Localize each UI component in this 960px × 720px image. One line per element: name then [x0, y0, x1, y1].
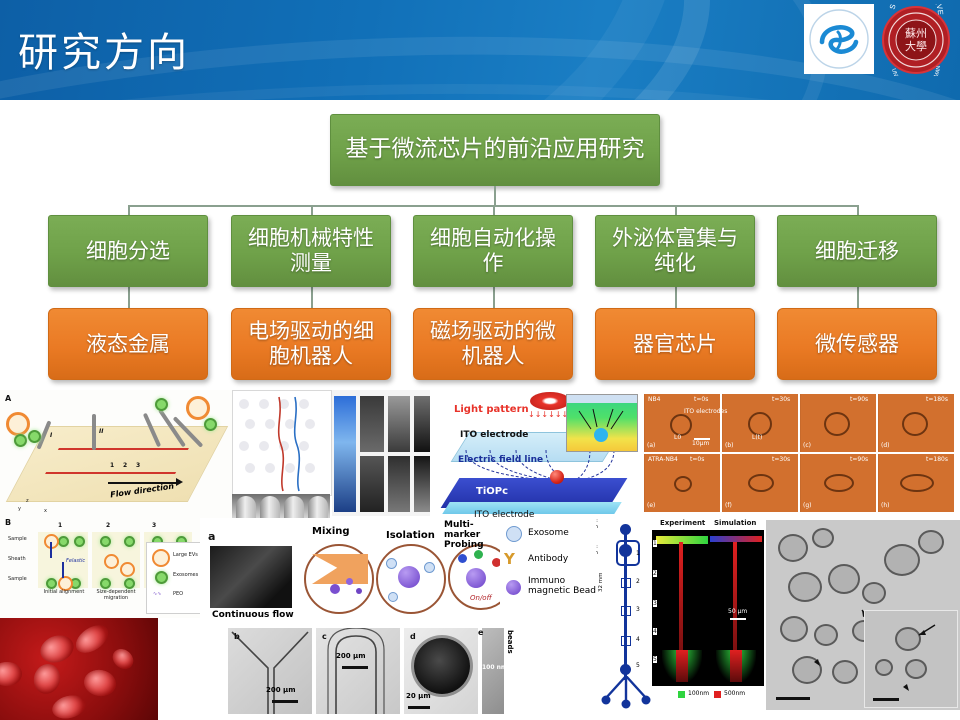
micrograph-b: [228, 628, 312, 714]
connector-green-to-orange: [311, 287, 313, 308]
panel-label: (c): [803, 442, 811, 449]
light-arrows: ↓↓↓↓↓↓: [528, 410, 568, 419]
cross-section-label: Cross-section of beads: [506, 630, 516, 716]
step-label-initial-alignment: Initial alignment: [40, 590, 88, 596]
migration-arrow: [50, 542, 52, 558]
cell-outline: [902, 412, 928, 436]
page-title: 研究方向: [18, 20, 190, 78]
elastic-force-arrow: [62, 562, 64, 578]
elastic-force-label: Felastic: [66, 558, 85, 564]
cell-outline: [824, 474, 854, 492]
outlet-label-1: 1: [110, 462, 114, 469]
step-label-mixing: Mixing: [312, 526, 350, 537]
outlet-branches: [596, 676, 658, 712]
magnetic-bead: [398, 566, 420, 588]
col-label-1: 1: [58, 522, 62, 529]
dld-trajectory-lines: [233, 391, 331, 495]
scale-label-e: 100 nm: [482, 664, 507, 671]
row-label-2: 2: [653, 570, 657, 577]
axis-label-x: x: [44, 508, 47, 514]
light-pattern-icon: [530, 392, 570, 410]
position-marker: [621, 636, 631, 646]
exosome-particle: [46, 578, 57, 589]
outlet-label-2: 2: [123, 462, 127, 469]
connector-branch: [493, 205, 495, 215]
exosome-particle: [424, 562, 435, 573]
figure-collage: A I II 1 2 3 Flow direction z y x: [0, 390, 960, 720]
legend-label-peo: PEO: [173, 591, 183, 597]
tem-inset: [864, 610, 958, 708]
time-label-180s: t=180s: [926, 396, 948, 403]
legend-icon-exosome: [506, 526, 522, 542]
panel-label-a: a: [208, 530, 215, 543]
exosome-particle: [124, 536, 135, 547]
row-label-sample: Sample: [8, 536, 27, 542]
tree-node-cell-automation[interactable]: 细胞自动化操作: [413, 215, 573, 287]
panel-label-b: B: [5, 518, 11, 527]
row-label-atra-nb4: ATRA-NB4: [648, 456, 678, 463]
row-label-3: 3: [653, 600, 657, 607]
red-blood-cell: [82, 667, 118, 698]
inlet-port: [620, 524, 631, 535]
col-label-3: 3: [152, 522, 156, 529]
ito-electrodes-label: ITO electrodes: [684, 408, 727, 415]
time-label-0s: t=0s: [690, 456, 704, 463]
chip-photo: [210, 546, 292, 608]
length-label-L0: L0: [674, 434, 681, 441]
panel-label: (d): [881, 442, 890, 449]
figure-cell-deformation-series: NB4 ATRA-NB4 t=0s t=30s t=90s t=180s t=0…: [642, 390, 960, 518]
channel-length-label: 32 mm: [598, 573, 604, 592]
position-marker: [621, 578, 631, 588]
scale-bar: [342, 666, 368, 669]
legend-icon-peo: ∿∿: [153, 591, 161, 597]
flow-arrow-head: [176, 478, 183, 486]
legend-label-500nm: 500nm: [724, 690, 745, 697]
figure-optoelectronic-tweezers: ↓↓↓↓↓↓ Light pattern ITO electrode Elect…: [430, 390, 640, 520]
connector-green-to-orange: [675, 287, 677, 308]
outlet-label-3: 3: [136, 462, 140, 469]
red-blood-cell: [71, 620, 113, 659]
micrograph-tile: [360, 396, 384, 452]
panel-label: (a): [647, 442, 655, 449]
connector-branch: [857, 205, 859, 215]
figure-exosome-legend: Exosome Y Antibody Immuno magnetic Beads: [500, 518, 610, 626]
large-ev-particle: [104, 554, 119, 569]
panel-label-e: e: [478, 628, 483, 637]
red-blood-cell: [50, 692, 89, 720]
tree-node-cell-sorting[interactable]: 细胞分选: [48, 215, 208, 287]
scale-bar: [272, 700, 298, 703]
large-ev-particle: [186, 396, 210, 420]
legend-icon-large-evs: [152, 549, 170, 567]
particle: [330, 584, 340, 594]
inlet-tube: [92, 414, 96, 450]
large-ev-particle: [120, 562, 135, 577]
university-lab-logo: [804, 4, 874, 74]
tree-node-magnetic-microrobot[interactable]: 磁场驱动的微机器人: [413, 308, 573, 380]
cell-outline: [674, 476, 692, 492]
time-label-30s: t=30s: [772, 396, 790, 403]
col-label-2: 2: [106, 522, 110, 529]
micrograph-e: [482, 628, 504, 714]
figure-channel-and-bead-micrographs: b 200 μm c 200 μm d 20 μm e 100 nm Cross…: [226, 626, 516, 716]
position-label-3: 3: [636, 606, 640, 613]
time-label-180s: t=180s: [926, 456, 948, 463]
large-ev-particle: [6, 412, 30, 436]
legend-label-exosome: Exosome: [528, 528, 569, 538]
connector-green-to-orange: [128, 287, 130, 308]
row-label-nb4: NB4: [648, 396, 660, 403]
ito-top-label: ITO electrode: [460, 430, 528, 440]
position-marker: [621, 606, 631, 616]
figure-exosome-workflow: a Continuous flow Mixing Isolation Multi…: [200, 518, 500, 626]
figure-sheath-flow-schematic: Sample: 200μL/h Sheath: 1200μL/h 32 mm 1…: [596, 516, 658, 712]
soochow-university-seal: SOOCHOW UNIVERSITY UNTO A FULL GROWN MAN…: [880, 4, 952, 76]
time-label-0s: t=0s: [694, 396, 708, 403]
connector-branch: [128, 205, 130, 215]
svg-text:大學: 大學: [905, 39, 927, 53]
row-label-1: 1: [653, 540, 657, 547]
onoff-label: On/off: [470, 594, 492, 602]
tree-node-exosome-enrichment[interactable]: 外泌体富集与纯化: [595, 215, 755, 287]
exosome-particle: [204, 418, 217, 431]
axis-label-z: z: [26, 498, 29, 504]
sheath-rate-label: Sheath: 1200μL/h: [596, 544, 598, 556]
legend-icon-immuno-magnetic-beads: [506, 580, 521, 595]
row-label-sheath: Sheath: [8, 556, 26, 562]
panel-label-d: d: [410, 632, 416, 641]
panel-label: (b): [725, 442, 734, 449]
chip-channel: [45, 448, 189, 474]
legend-icon-antibody: Y: [504, 550, 515, 568]
inlet-label-1: I: [50, 432, 52, 439]
length-label-Lt: L(t): [752, 434, 762, 441]
outlet-port: [620, 664, 631, 675]
figure-ev-sorting-schematic: A I II 1 2 3 Flow direction z y x: [0, 390, 232, 618]
position-label-2: 2: [636, 578, 640, 585]
column-header-experiment: Experiment: [660, 519, 705, 527]
tiopc-label: TiOPc: [476, 486, 508, 497]
scale-bar: [730, 618, 746, 620]
panel-label: (e): [647, 502, 655, 509]
cell-outline: [748, 412, 772, 436]
experiment-panel: [656, 532, 708, 684]
cell-outline: [824, 412, 850, 436]
tree-node-cell-mechanics[interactable]: 细胞机械特性测量: [231, 215, 391, 287]
tree-node-microsensor[interactable]: 微传感器: [777, 308, 937, 380]
legend-label-immuno-magnetic-beads: Immuno magnetic Beads: [528, 576, 604, 597]
scale-label-d: 20 μm: [406, 692, 431, 700]
exosome-particle: [100, 578, 111, 589]
scale-label-b: 200 μm: [266, 686, 296, 694]
labeled-exosome: [458, 554, 467, 563]
red-blood-cell: [109, 645, 137, 673]
position-label-1: 1: [636, 550, 640, 557]
column-header-simulation: Simulation: [714, 519, 756, 527]
connector-root-stem: [494, 186, 496, 206]
time-label-90s: t=90s: [850, 396, 868, 403]
exosome-particle: [58, 536, 69, 547]
particle: [356, 588, 362, 594]
exosome-particle: [14, 434, 27, 447]
tree-root-node[interactable]: 基于微流芯片的前沿应用研究: [330, 114, 660, 186]
exosome-particle: [124, 578, 135, 589]
position-label-5: 5: [636, 662, 640, 669]
tree-node-liquid-metal[interactable]: 液态金属: [48, 308, 208, 380]
research-directions-tree: 基于微流芯片的前沿应用研究 细胞分选 细胞机械特性测量 细胞自动化操作 外泌体富…: [0, 100, 960, 395]
sample-rate-label: Sample: 200μL/h: [596, 518, 598, 530]
micrograph-tile: [360, 456, 384, 512]
figure-dld-post-array: [232, 390, 332, 496]
scale-bar: [408, 706, 430, 709]
figure-fluorescence-comparison: Experiment Simulation 1 2 3 4 5 50 μm: [652, 518, 764, 708]
panel-label: (h): [881, 502, 889, 509]
scale-label-50um: 50 μm: [728, 608, 747, 615]
time-label-90s: t=90s: [850, 456, 868, 463]
micrograph-c: [316, 628, 400, 714]
scale-bar: [873, 698, 899, 701]
position-label-4: 4: [636, 636, 640, 643]
micrograph-tile: [388, 456, 410, 512]
red-blood-cell: [37, 631, 78, 667]
panel-label-a: A: [5, 394, 11, 403]
exosome-particle: [388, 592, 398, 602]
slide-root: 研究方向 SOOCHOW UNIVERSITY: [0, 0, 960, 720]
light-pattern-label: Light pattern: [454, 404, 529, 415]
logo-group: SOOCHOW UNIVERSITY UNTO A FULL GROWN MAN…: [804, 4, 952, 76]
legend-label-large-evs: Large EVs: [173, 552, 198, 558]
simulation-inset: [566, 394, 638, 452]
connector-green-to-orange: [493, 287, 495, 308]
slide-header: 研究方向 SOOCHOW UNIVERSITY: [0, 0, 960, 100]
magnetic-bead: [466, 568, 486, 588]
panel-label-b: b: [234, 632, 240, 641]
red-blood-cell: [0, 662, 22, 686]
row-label-4: 4: [653, 628, 657, 635]
cell-outline: [670, 414, 692, 436]
cell-outline: [900, 474, 934, 492]
connector-branch: [311, 205, 313, 215]
panel-label: (g): [803, 502, 812, 509]
svg-text:蘇州: 蘇州: [905, 27, 927, 40]
cell-outline: [748, 474, 774, 492]
connector-branch: [675, 205, 677, 215]
row-label-5: 5: [653, 656, 657, 663]
panel-label-c: c: [322, 632, 327, 641]
row-label-sample: Sample: [8, 576, 27, 582]
figure-tem-vesicles: [766, 520, 960, 710]
particle: [346, 578, 353, 585]
exosome-particle: [100, 536, 111, 547]
fluorescence-legend: 100nm 500nm: [652, 686, 764, 708]
legend-label-100nm: 100nm: [688, 690, 709, 697]
time-label-30s: t=30s: [772, 456, 790, 463]
step-label-size-dependent-migration: Size-dependent migration: [92, 590, 140, 601]
legend-swatch-100nm: [678, 691, 685, 698]
connector-green-to-orange: [857, 287, 859, 308]
step-label-isolation: Isolation: [386, 530, 435, 541]
exosome-particle: [386, 558, 397, 569]
step-label-probing: Multi-marker Probing: [444, 520, 500, 550]
scale-label-c: 200 μm: [336, 652, 366, 660]
panel-label: (f): [725, 502, 732, 509]
legend-swatch-500nm: [714, 691, 721, 698]
exosome-particle: [74, 536, 85, 547]
tree-node-electric-cell-robot[interactable]: 电场驱动的细胞机器人: [231, 308, 391, 380]
legend-label-exosomes: Exosomes: [173, 572, 198, 578]
axis-label-y: y: [18, 506, 21, 512]
figure-channel-micrograph-stack: [332, 390, 438, 516]
labeled-exosome: [492, 558, 500, 567]
scale-label-10um: 10μm: [692, 440, 709, 447]
red-blood-cell: [31, 661, 64, 697]
electric-field-line-label: Electric field line: [458, 456, 543, 465]
spheroid: [414, 638, 470, 694]
figure-red-blood-cells: [0, 618, 158, 720]
exosome-particle: [28, 430, 41, 443]
inlet-label-2: II: [99, 428, 103, 435]
exosome-particle: [155, 398, 168, 411]
trapped-particle: [550, 470, 564, 484]
tree-node-cell-migration[interactable]: 细胞迁移: [777, 215, 937, 287]
legend-icon-exosomes: [155, 571, 168, 584]
continuous-flow-label: Continuous flow: [212, 610, 294, 620]
tree-node-organ-on-chip[interactable]: 器官芯片: [595, 308, 755, 380]
labeled-exosome: [474, 550, 483, 559]
legend-label-antibody: Antibody: [528, 554, 568, 564]
channel-photo: [334, 396, 356, 512]
micrograph-tile: [388, 396, 410, 452]
scale-bar: [776, 697, 810, 700]
